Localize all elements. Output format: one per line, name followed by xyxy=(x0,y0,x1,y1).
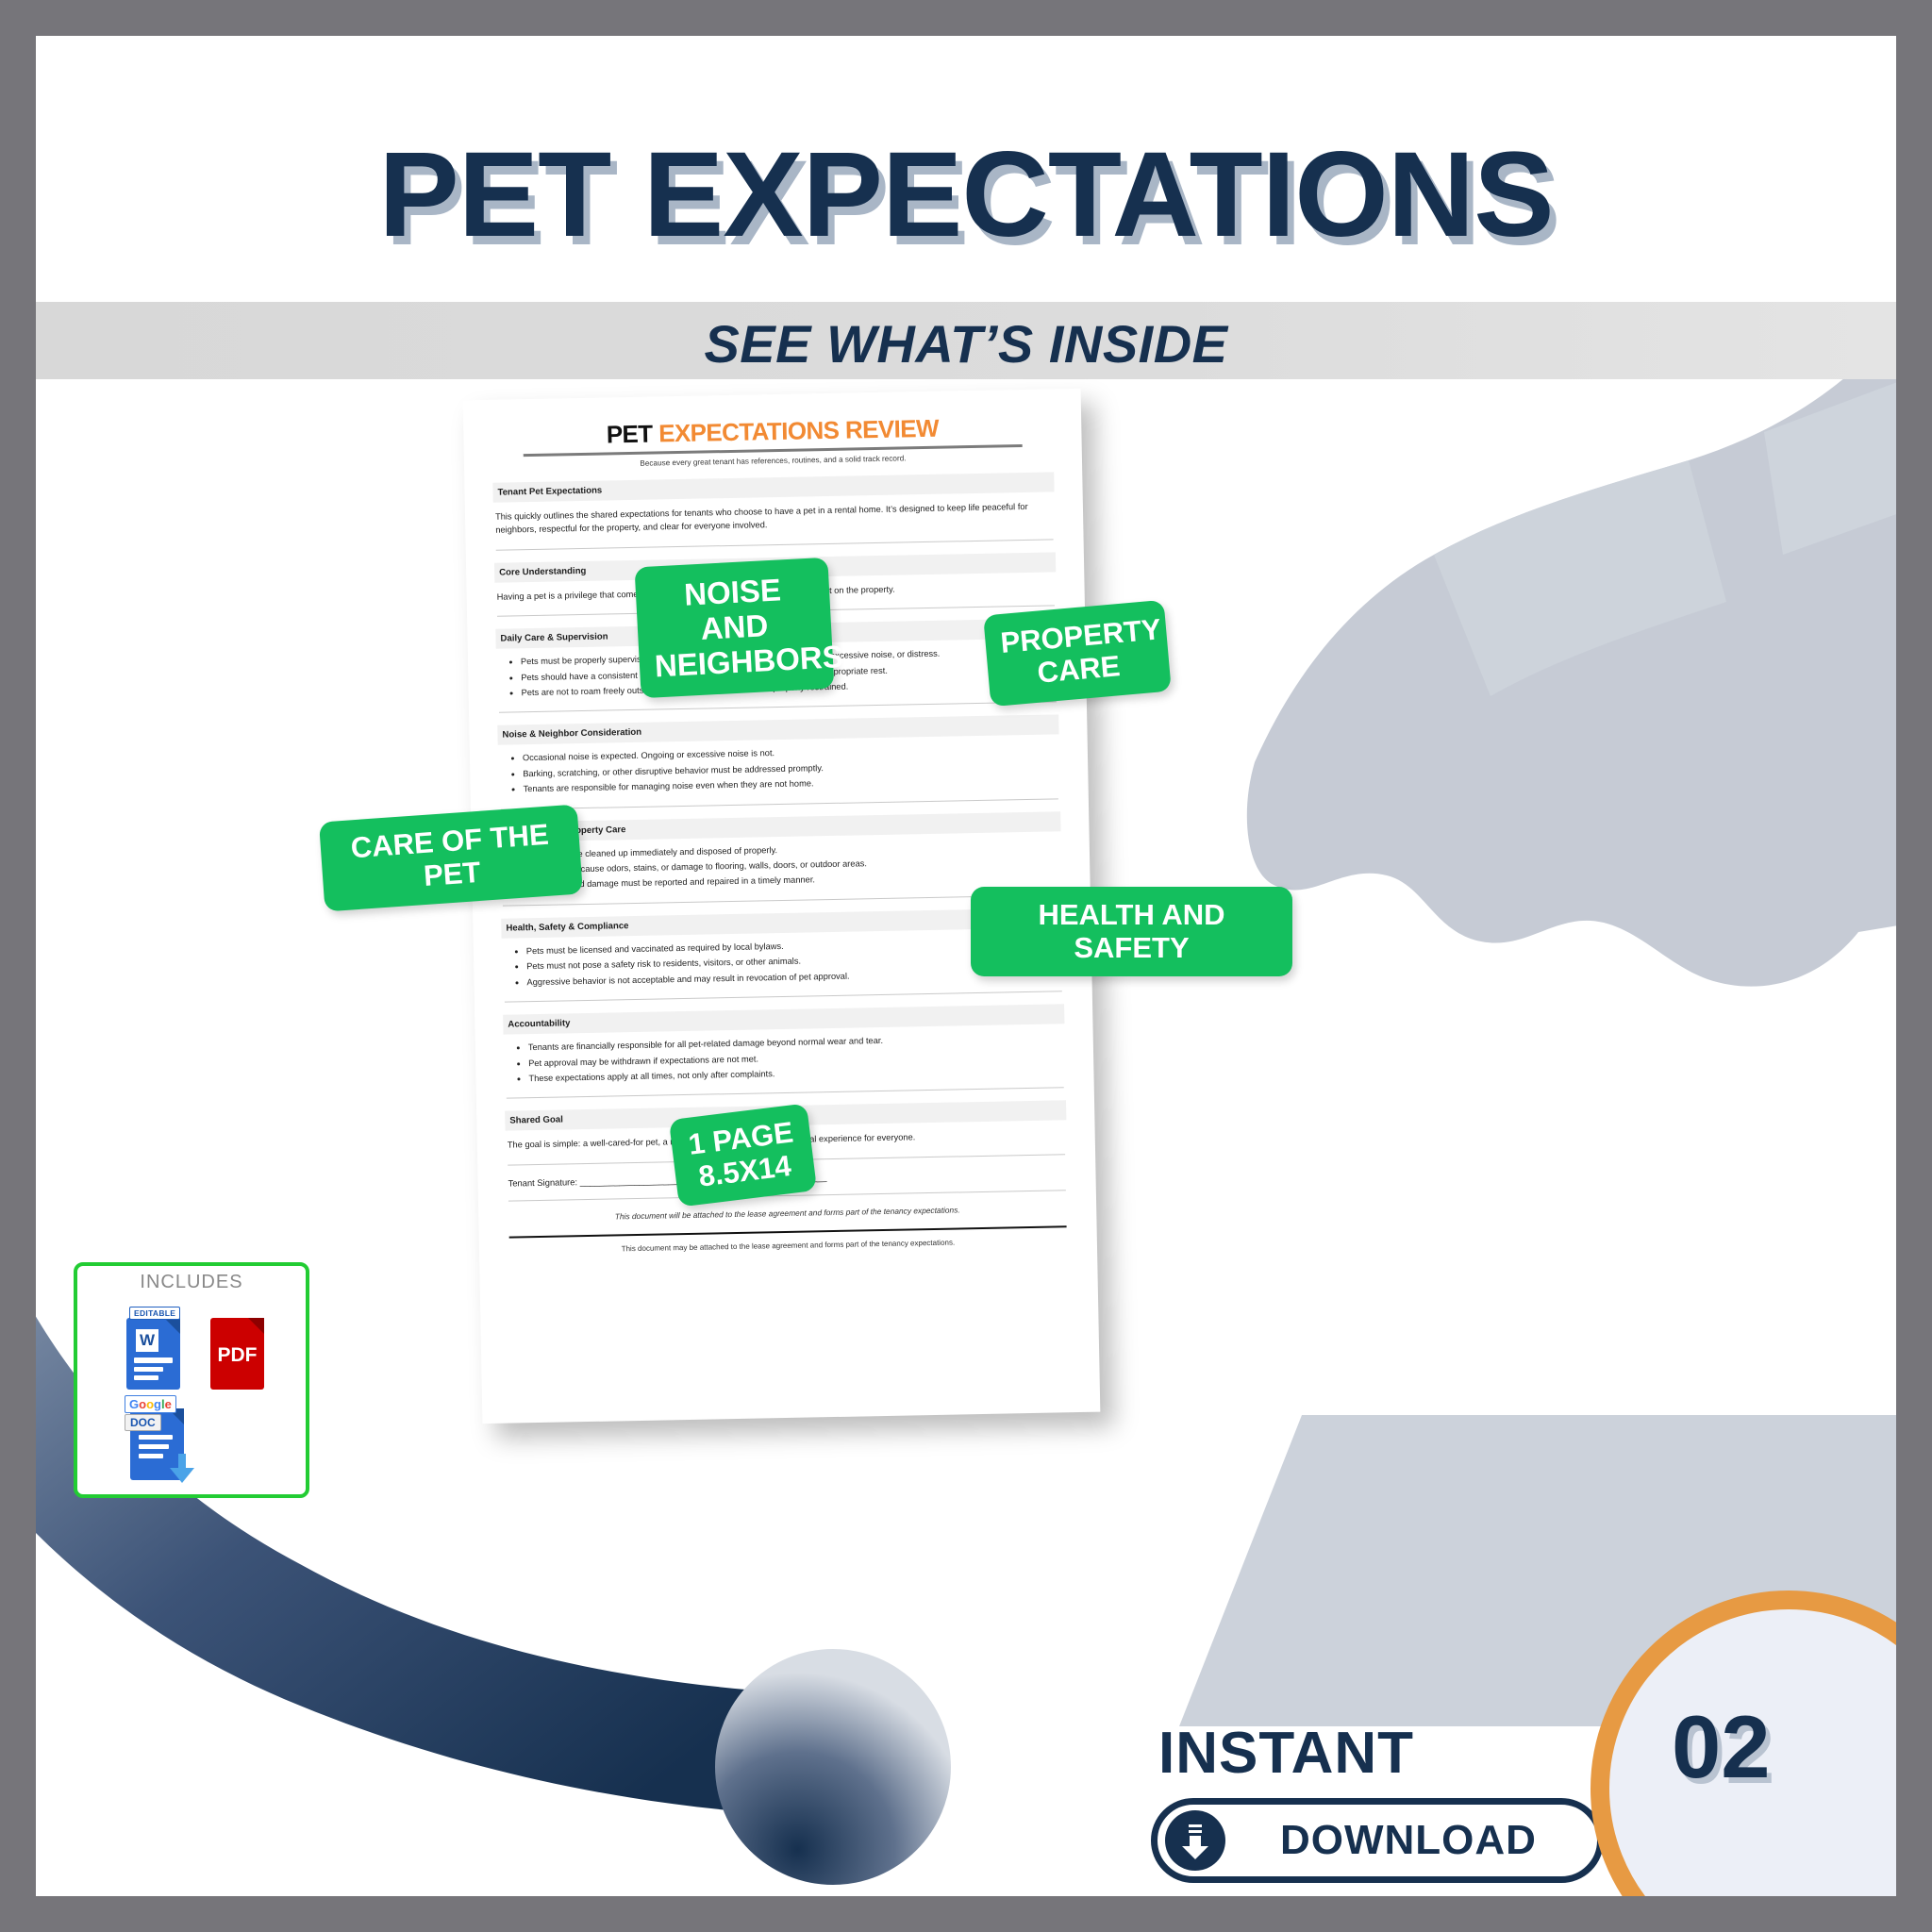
document-header: PET EXPECTATIONS REVIEW Because every gr… xyxy=(491,413,1054,470)
callout-page-size: 1 PAGE 8.5X14 xyxy=(669,1103,817,1207)
section-divider xyxy=(499,702,1057,713)
includes-badge: INCLUDES W EDITABLE PDF xyxy=(74,1262,309,1498)
download-button-label: DOWNLOAD xyxy=(1280,1805,1537,1876)
pdf-file-icon: PDF xyxy=(210,1318,264,1390)
section-bullets: Waste must be cleaned up immediately and… xyxy=(500,838,1062,893)
pdf-label: PDF xyxy=(210,1344,264,1367)
section-bullets: Tenants are financially responsible for … xyxy=(504,1030,1066,1086)
paint-stroke-decoration xyxy=(1198,319,1896,1036)
word-letter: W xyxy=(136,1329,158,1352)
callout-property-care: PROPERTY CARE xyxy=(983,600,1172,708)
file-type-icons: W EDITABLE PDF xyxy=(77,1293,306,1473)
signature-label: Tenant Signature: ______________________ xyxy=(508,1174,688,1189)
document-footer-note: This document may be attached to the lea… xyxy=(517,1237,1059,1256)
google-label: Google xyxy=(125,1395,176,1413)
section-heading: Noise & Neighbor Consideration xyxy=(497,715,1058,745)
section-heading: Accountability xyxy=(503,1004,1064,1034)
google-doc-file-icon: Google DOC xyxy=(130,1408,184,1480)
document-note: This document will be attached to the le… xyxy=(516,1203,1058,1223)
section-bullets: Occasional noise is expected. Ongoing or… xyxy=(498,741,1060,797)
includes-label: INCLUDES xyxy=(77,1272,306,1293)
footer-rule xyxy=(509,1225,1067,1239)
section-divider xyxy=(505,991,1062,1002)
section-divider xyxy=(496,539,1054,550)
callout-noise-and-neighbors: NOISE AND NEIGHBORS xyxy=(635,558,835,698)
download-arrow-icon xyxy=(168,1454,196,1484)
download-button[interactable]: DOWNLOAD xyxy=(1151,1798,1604,1883)
document-logo-first: PET xyxy=(606,420,652,449)
section-heading: Cleanliness & Property Care xyxy=(499,811,1060,841)
section-paragraph: This quickly outlines the shared expecta… xyxy=(495,499,1053,537)
instant-label: INSTANT xyxy=(1158,1720,1414,1787)
word-file-icon: W EDITABLE xyxy=(126,1318,180,1390)
document-logo-rest: EXPECTATIONS REVIEW xyxy=(658,414,939,448)
page-title: PET EXPECTATIONS xyxy=(36,125,1896,264)
download-icon-circle xyxy=(1165,1810,1225,1871)
document-logo: PET EXPECTATIONS REVIEW xyxy=(491,413,1053,448)
page-subtitle: SEE WHAT’S INSIDE xyxy=(36,306,1896,383)
download-arrow-icon xyxy=(1165,1810,1225,1871)
doc-label: DOC xyxy=(125,1414,161,1431)
section-divider xyxy=(501,798,1058,809)
section-divider xyxy=(507,1088,1064,1099)
callout-care-of-the-pet: CARE OF THE PET xyxy=(319,805,583,912)
page-number: 02 xyxy=(1672,1696,1771,1798)
section-heading: Tenant Pet Expectations xyxy=(492,472,1054,502)
callout-health-and-safety: HEALTH AND SAFETY xyxy=(971,887,1292,976)
editable-badge: EDITABLE xyxy=(129,1307,180,1320)
poster-canvas: PET EXPECTATIONS SEE WHAT’S INSIDE PET E… xyxy=(36,36,1896,1896)
